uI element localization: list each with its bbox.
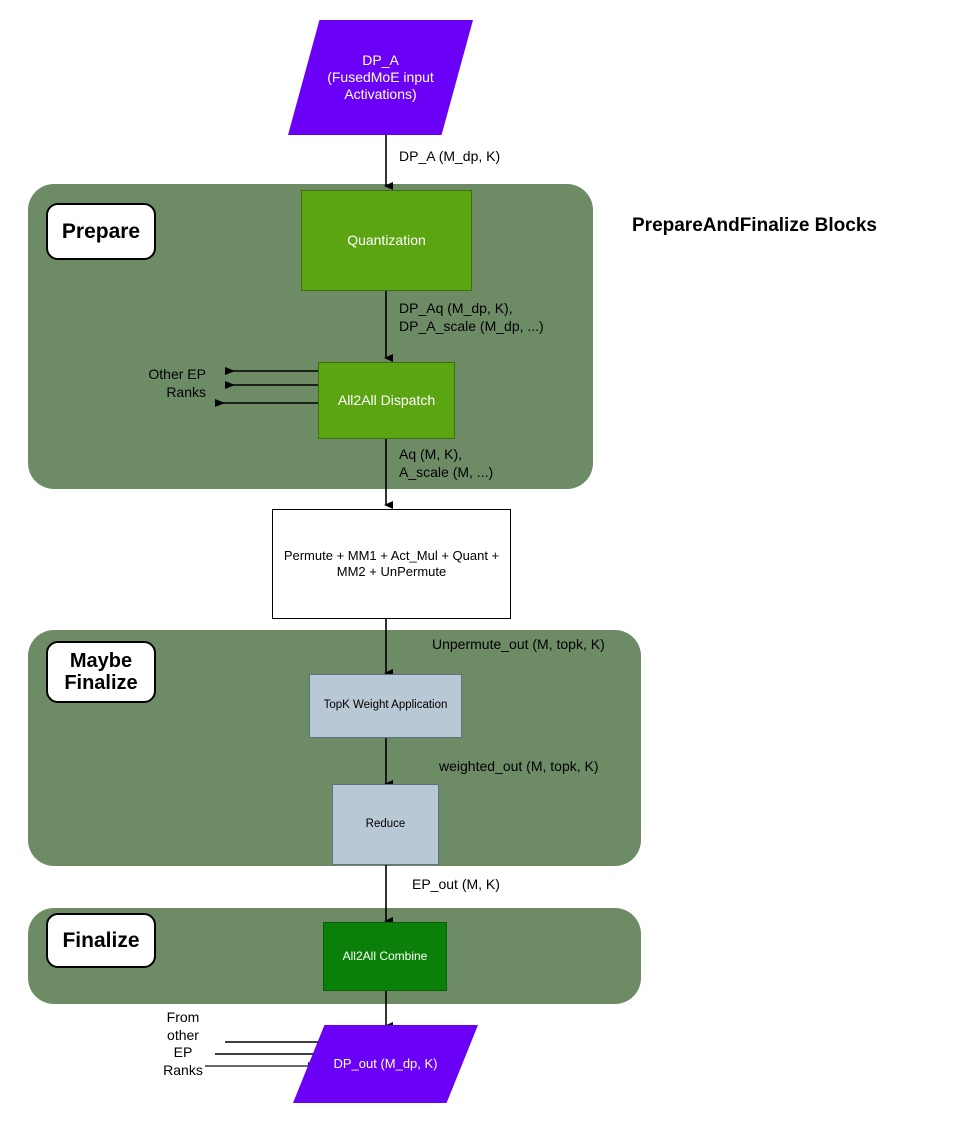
process-topk-weight-application[interactable]: TopK Weight Application (309, 674, 462, 738)
group-title-finalize-label: Finalize (62, 929, 139, 953)
page-title: PrepareAndFinalize Blocks (632, 215, 877, 237)
group-title-maybe-finalize-label: Maybe Finalize (64, 650, 137, 695)
group-title-prepare: Prepare (46, 203, 156, 260)
process-quantization-label: Quantization (347, 232, 426, 249)
process-all2all-combine-label: All2All Combine (343, 949, 428, 963)
edge-label-from-other-ep-ranks: From other EP Ranks (128, 1009, 238, 1079)
process-all2all-dispatch-label: All2All Dispatch (338, 392, 435, 409)
data-node-dp-a-input: DP_A (FusedMoE input Activations) (288, 20, 473, 135)
edge-label-ep-out: EP_out (M, K) (412, 876, 500, 894)
edge-label-other-ep-ranks: Other EP Ranks (86, 366, 206, 401)
process-reduce-label: Reduce (366, 818, 406, 832)
process-quantization[interactable]: Quantization (301, 190, 472, 291)
data-node-dp-out: DP_out (M_dp, K) (293, 1025, 478, 1103)
process-topk-weight-application-label: TopK Weight Application (324, 699, 448, 713)
group-title-finalize: Finalize (46, 913, 156, 968)
edge-label-dp-aq: DP_Aq (M_dp, K), DP_A_scale (M_dp, ...) (399, 300, 544, 335)
edge-label-unpermute-out: Unpermute_out (M, topk, K) (432, 636, 605, 654)
process-all2all-dispatch[interactable]: All2All Dispatch (318, 362, 455, 439)
data-node-dp-out-label: DP_out (M_dp, K) (333, 1056, 437, 1072)
edge-label-dp-a: DP_A (M_dp, K) (399, 148, 500, 166)
process-fused-core-label: Permute + MM1 + Act_Mul + Quant + MM2 + … (284, 548, 499, 579)
group-title-maybe-finalize: Maybe Finalize (46, 641, 156, 703)
diagram-canvas: DP_A (FusedMoE input Activations) Prepar… (0, 0, 971, 1121)
edge-label-weighted-out: weighted_out (M, topk, K) (439, 758, 599, 776)
process-reduce[interactable]: Reduce (332, 784, 439, 865)
process-fused-core[interactable]: Permute + MM1 + Act_Mul + Quant + MM2 + … (272, 509, 511, 619)
edge-label-aq: Aq (M, K), A_scale (M, ...) (399, 446, 493, 481)
data-node-dp-a-input-label: DP_A (FusedMoE input Activations) (327, 52, 434, 103)
group-title-prepare-label: Prepare (62, 220, 140, 244)
process-all2all-combine[interactable]: All2All Combine (323, 922, 447, 991)
